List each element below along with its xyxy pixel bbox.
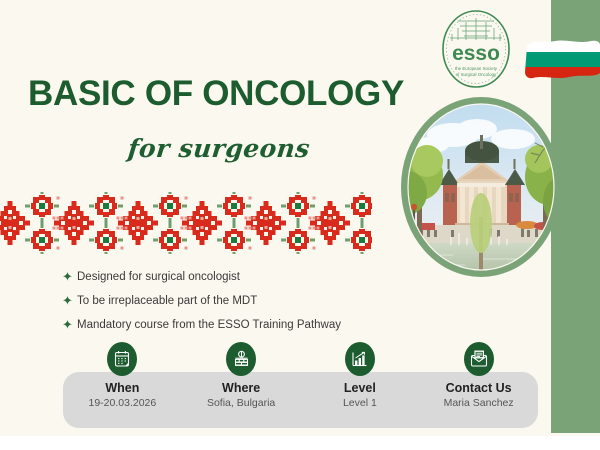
info-bar: When 19-20.03.2026 Where Sofia, Bulgaria: [63, 342, 538, 430]
esso-tagline-line1: the European Society: [455, 66, 498, 71]
esso-wordmark: esso: [452, 42, 500, 65]
poster-canvas: esso the European Society of Surgical On…: [0, 0, 600, 450]
bulgarian-flag: [523, 36, 600, 82]
venue-photo: [393, 97, 569, 277]
list-item-label: To be irreplaceable part of the MDT: [77, 295, 257, 307]
list-item-label: Designed for surgical oncologist: [77, 271, 240, 283]
list-item: ✦ To be irreplaceable part of the MDT: [62, 293, 341, 308]
info-item-level: Level Level 1: [301, 342, 420, 430]
bulgarian-embroidery-band: [0, 192, 372, 254]
info-label-level: Level: [344, 381, 376, 395]
star-bullet-icon: ✦: [62, 294, 77, 307]
page-subtitle: for surgeons: [126, 134, 311, 163]
calendar-icon: [107, 342, 137, 376]
list-item: ✦ Mandatory course from the ESSO Trainin…: [62, 317, 341, 332]
page-title: BASIC OF ONCOLOGY: [28, 74, 404, 114]
info-value-when: 19-20.03.2026: [89, 397, 157, 409]
info-value-level: Level 1: [343, 397, 377, 409]
feature-list: ✦ Designed for surgical oncologist ✦ To …: [62, 269, 341, 341]
info-item-where: Where Sofia, Bulgaria: [182, 342, 301, 430]
mail-icon: [464, 342, 494, 376]
list-item: ✦ Designed for surgical oncologist: [62, 269, 341, 284]
bottom-frame-strip: [0, 436, 600, 450]
list-item-label: Mandatory course from the ESSO Training …: [77, 319, 341, 331]
info-label-where: Where: [222, 381, 260, 395]
info-label-when: When: [105, 381, 139, 395]
info-item-contact: Contact Us Maria Sanchez: [419, 342, 538, 430]
landmark-icon: [226, 342, 256, 376]
info-label-contact: Contact Us: [446, 381, 512, 395]
info-value-contact: Maria Sanchez: [444, 397, 514, 409]
esso-tagline-line2: of Surgical Oncology: [456, 72, 497, 77]
star-bullet-icon: ✦: [62, 318, 77, 331]
info-value-where: Sofia, Bulgaria: [207, 397, 275, 409]
star-bullet-icon: ✦: [62, 270, 77, 283]
esso-logo: esso the European Society of Surgical On…: [432, 8, 520, 90]
info-item-when: When 19-20.03.2026: [63, 342, 182, 430]
bar-chart-icon: [345, 342, 375, 376]
